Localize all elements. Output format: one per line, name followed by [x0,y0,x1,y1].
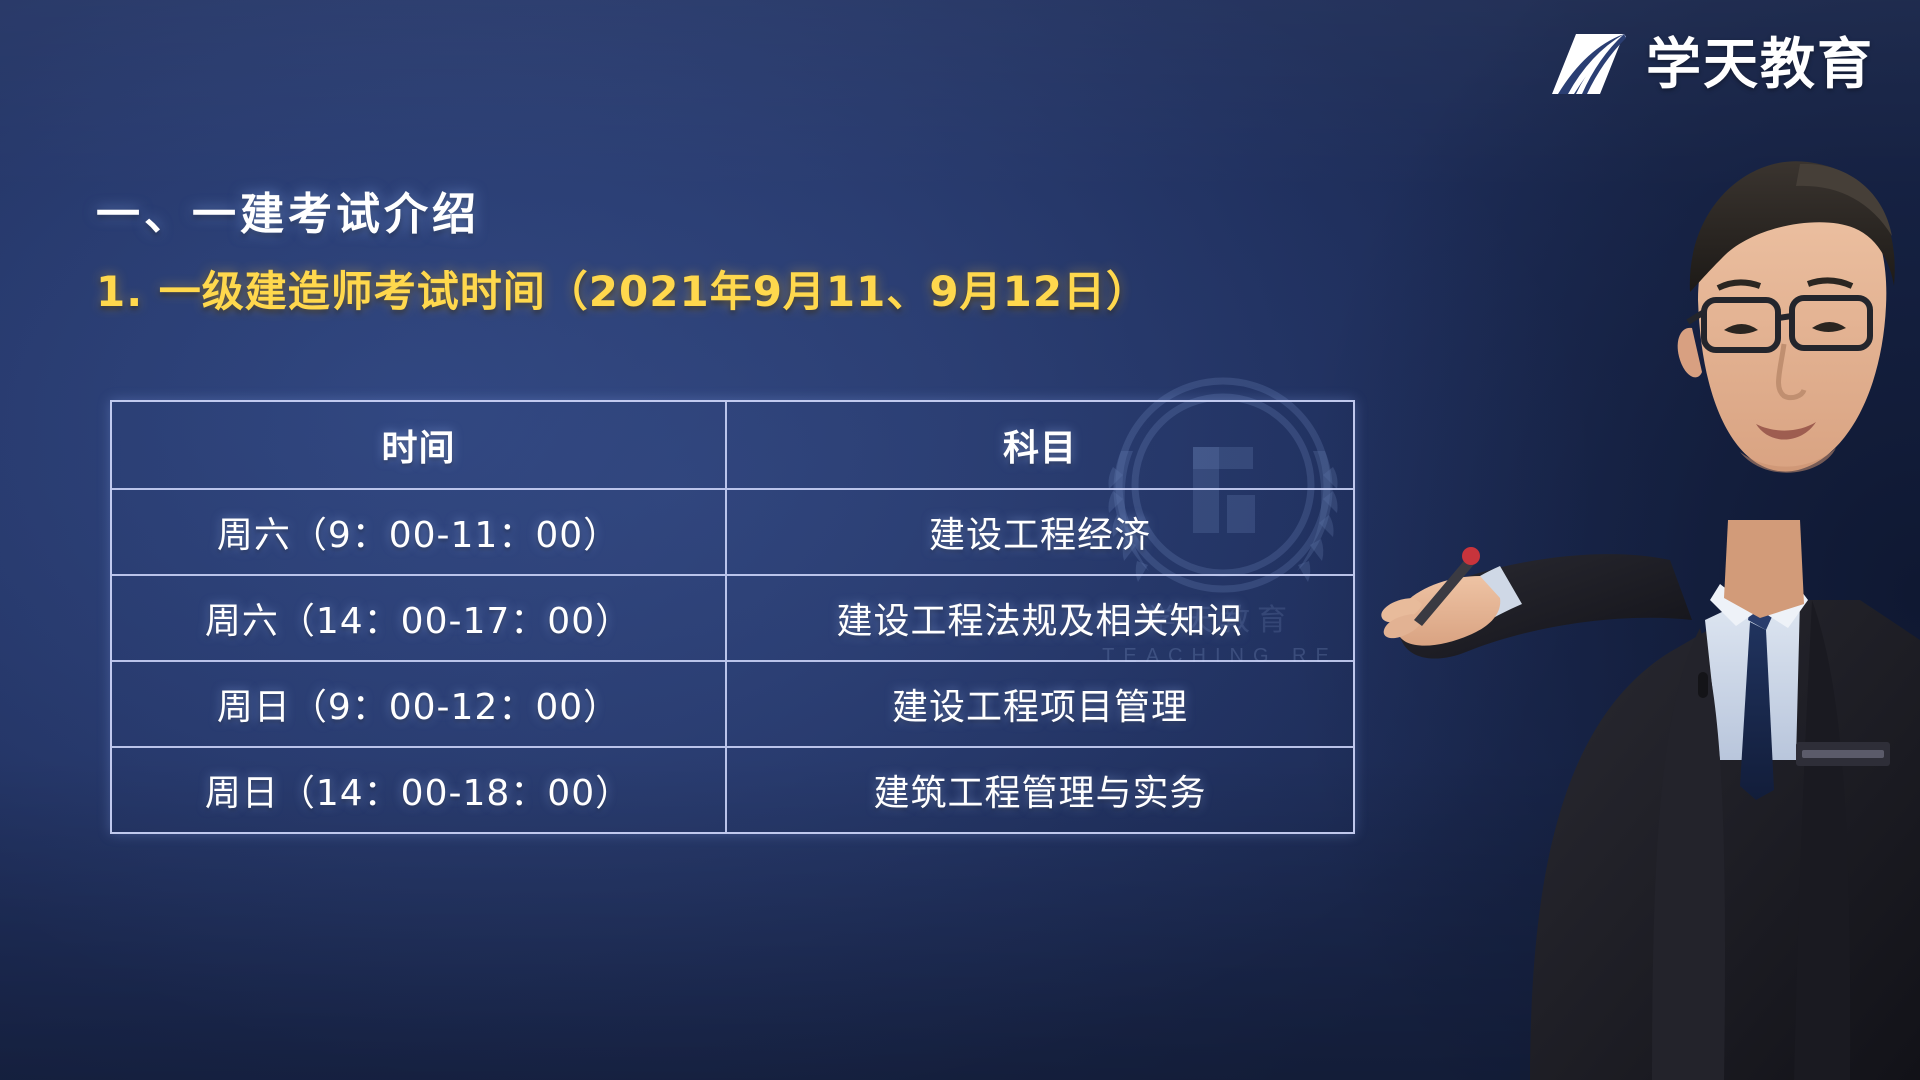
road-swoosh-icon [1546,28,1630,100]
table-row: 周六（14：00-17：00） 建设工程法规及相关知识 [112,576,1353,662]
cell-time: 周日（9：00-12：00） [112,662,727,746]
brand-name: 学天教育 [1646,37,1874,92]
cell-time: 周六（14：00-17：00） [112,576,727,660]
presenter-head [1678,161,1895,473]
page-subtitle: 1. 一级建造师考试时间（2021年9月11、9月12日） [96,258,1149,319]
table-row: 周日（14：00-18：00） 建筑工程管理与实务 [112,748,1353,832]
presenter-figure [1200,0,1920,1080]
cell-time: 周日（14：00-18：00） [112,748,727,832]
slide-stage: 学天教育 TEACHING RE 学天教育 一、一建考试介绍 1. 一级建造师考… [0,0,1920,1080]
presenter-arm [1381,547,1692,659]
brand-logo: 学天教育 [1546,28,1874,100]
column-header-time: 时间 [112,402,727,488]
page-title: 一、一建考试介绍 [96,178,480,242]
table-header-row: 时间 科目 [112,402,1353,490]
cell-time: 周六（9：00-11：00） [112,490,727,574]
table-row: 周日（9：00-12：00） 建设工程项目管理 [112,662,1353,748]
presenter-torso [1530,584,1920,1080]
exam-schedule-table: 时间 科目 周六（9：00-11：00） 建设工程经济 周六（14：00-17：… [110,400,1355,834]
table-row: 周六（9：00-11：00） 建设工程经济 [112,490,1353,576]
